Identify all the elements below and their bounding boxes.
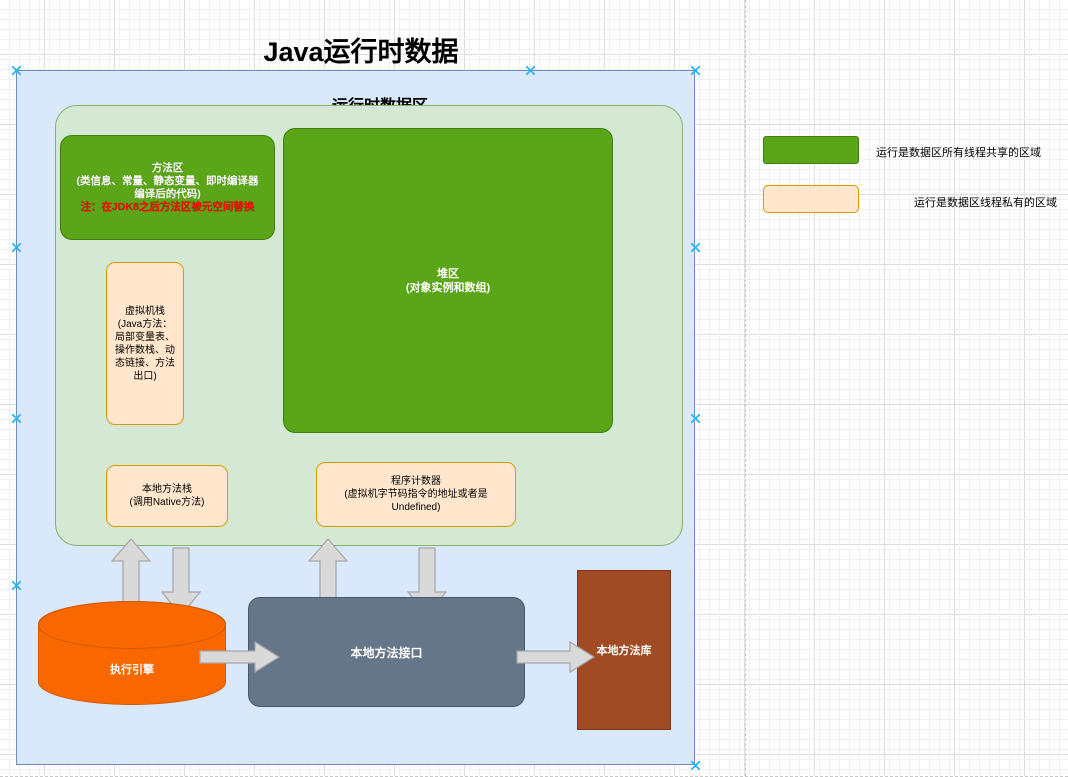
selection-handle-w-upper[interactable]	[12, 243, 21, 252]
page-break-vertical	[745, 0, 746, 776]
vm-stack-detail-3: 操作数栈、动	[115, 344, 175, 357]
program-counter-detail-1: (虚拟机字节码指令的地址或者是	[344, 488, 487, 501]
selection-handle-ne[interactable]	[691, 66, 700, 75]
vm-stack-detail-2: 局部变量表、	[115, 331, 175, 344]
vm-stack-box[interactable]: 虚拟机栈 (Java方法： 局部变量表、 操作数栈、动 态链接、方法 出口)	[106, 262, 184, 425]
heap-detail: (对象实例和数组)	[406, 281, 490, 295]
arrow-right-engine-to-interface	[200, 640, 280, 674]
native-method-stack-detail: (调用Native方法)	[129, 496, 204, 509]
method-area-box[interactable]: 方法区 (类信息、常量、静态变量、即时编译器 编译后的代码) 注：在JDK8之后…	[60, 135, 275, 240]
heap-area-box[interactable]: 堆区 (对象实例和数组)	[283, 128, 613, 433]
program-counter-detail-2: Undefined)	[344, 501, 487, 514]
method-area-title: 方法区	[77, 162, 259, 175]
native-method-interface-box[interactable]: 本地方法接口	[248, 597, 525, 707]
program-counter-box[interactable]: 程序计数器 (虚拟机字节码指令的地址或者是 Undefined)	[316, 462, 516, 527]
selection-handle-e-upper[interactable]	[691, 243, 700, 252]
method-area-text-block: 方法区 (类信息、常量、静态变量、即时编译器 编译后的代码) 注：在JDK8之后…	[77, 162, 259, 214]
legend-shared-text: 运行是数据区所有线程共享的区域	[876, 144, 1041, 160]
selection-handle-w-lower[interactable]	[12, 414, 21, 423]
vm-stack-detail-5: 出口)	[115, 370, 175, 383]
native-method-stack-text-block: 本地方法栈 (调用Native方法)	[129, 483, 204, 509]
selection-handle-se[interactable]	[691, 761, 700, 770]
execution-engine-cylinder[interactable]: 执行引擎	[38, 601, 226, 705]
cylinder-top-ellipse	[38, 601, 226, 649]
legend-shared-swatch	[763, 136, 859, 164]
page-title: Java运行时数据	[232, 30, 490, 68]
vm-stack-detail-4: 态链接、方法	[115, 357, 175, 370]
vm-stack-detail-1: (Java方法：	[115, 318, 175, 331]
method-area-note: 注：在JDK8之后方法区被元空间替换	[77, 201, 259, 214]
native-method-library-label: 本地方法库	[597, 642, 652, 658]
program-counter-text-block: 程序计数器 (虚拟机字节码指令的地址或者是 Undefined)	[344, 475, 487, 514]
selection-handle-e-lower[interactable]	[691, 414, 700, 423]
arrow-up-engine-to-stack	[110, 537, 152, 607]
legend-private-swatch	[763, 185, 859, 213]
execution-engine-label: 执行引擎	[39, 661, 225, 677]
selection-handle-nw[interactable]	[12, 66, 21, 75]
arrow-right-interface-to-library	[517, 640, 595, 674]
heap-title: 堆区	[406, 267, 490, 281]
legend-private-text: 运行是数据区线程私有的区域	[914, 194, 1057, 210]
heap-text-block: 堆区 (对象实例和数组)	[406, 267, 490, 295]
program-counter-title: 程序计数器	[344, 475, 487, 488]
native-method-interface-label: 本地方法接口	[350, 644, 422, 661]
vm-stack-title: 虚拟机栈	[115, 305, 175, 318]
vm-stack-text-block: 虚拟机栈 (Java方法： 局部变量表、 操作数栈、动 态链接、方法 出口)	[115, 305, 175, 383]
method-area-detail-1: (类信息、常量、静态变量、即时编译器	[77, 175, 259, 188]
native-method-stack-box[interactable]: 本地方法栈 (调用Native方法)	[106, 465, 228, 527]
native-method-stack-title: 本地方法栈	[129, 483, 204, 496]
selection-handle-sw-mid[interactable]	[12, 581, 21, 590]
method-area-detail-2: 编译后的代码)	[77, 188, 259, 201]
selection-handle-n[interactable]	[526, 66, 535, 75]
diagram-canvas[interactable]: Java运行时数据 运行时数据区 方法区 (类信息、常量、静态变量、即时编译器 …	[0, 0, 1068, 776]
